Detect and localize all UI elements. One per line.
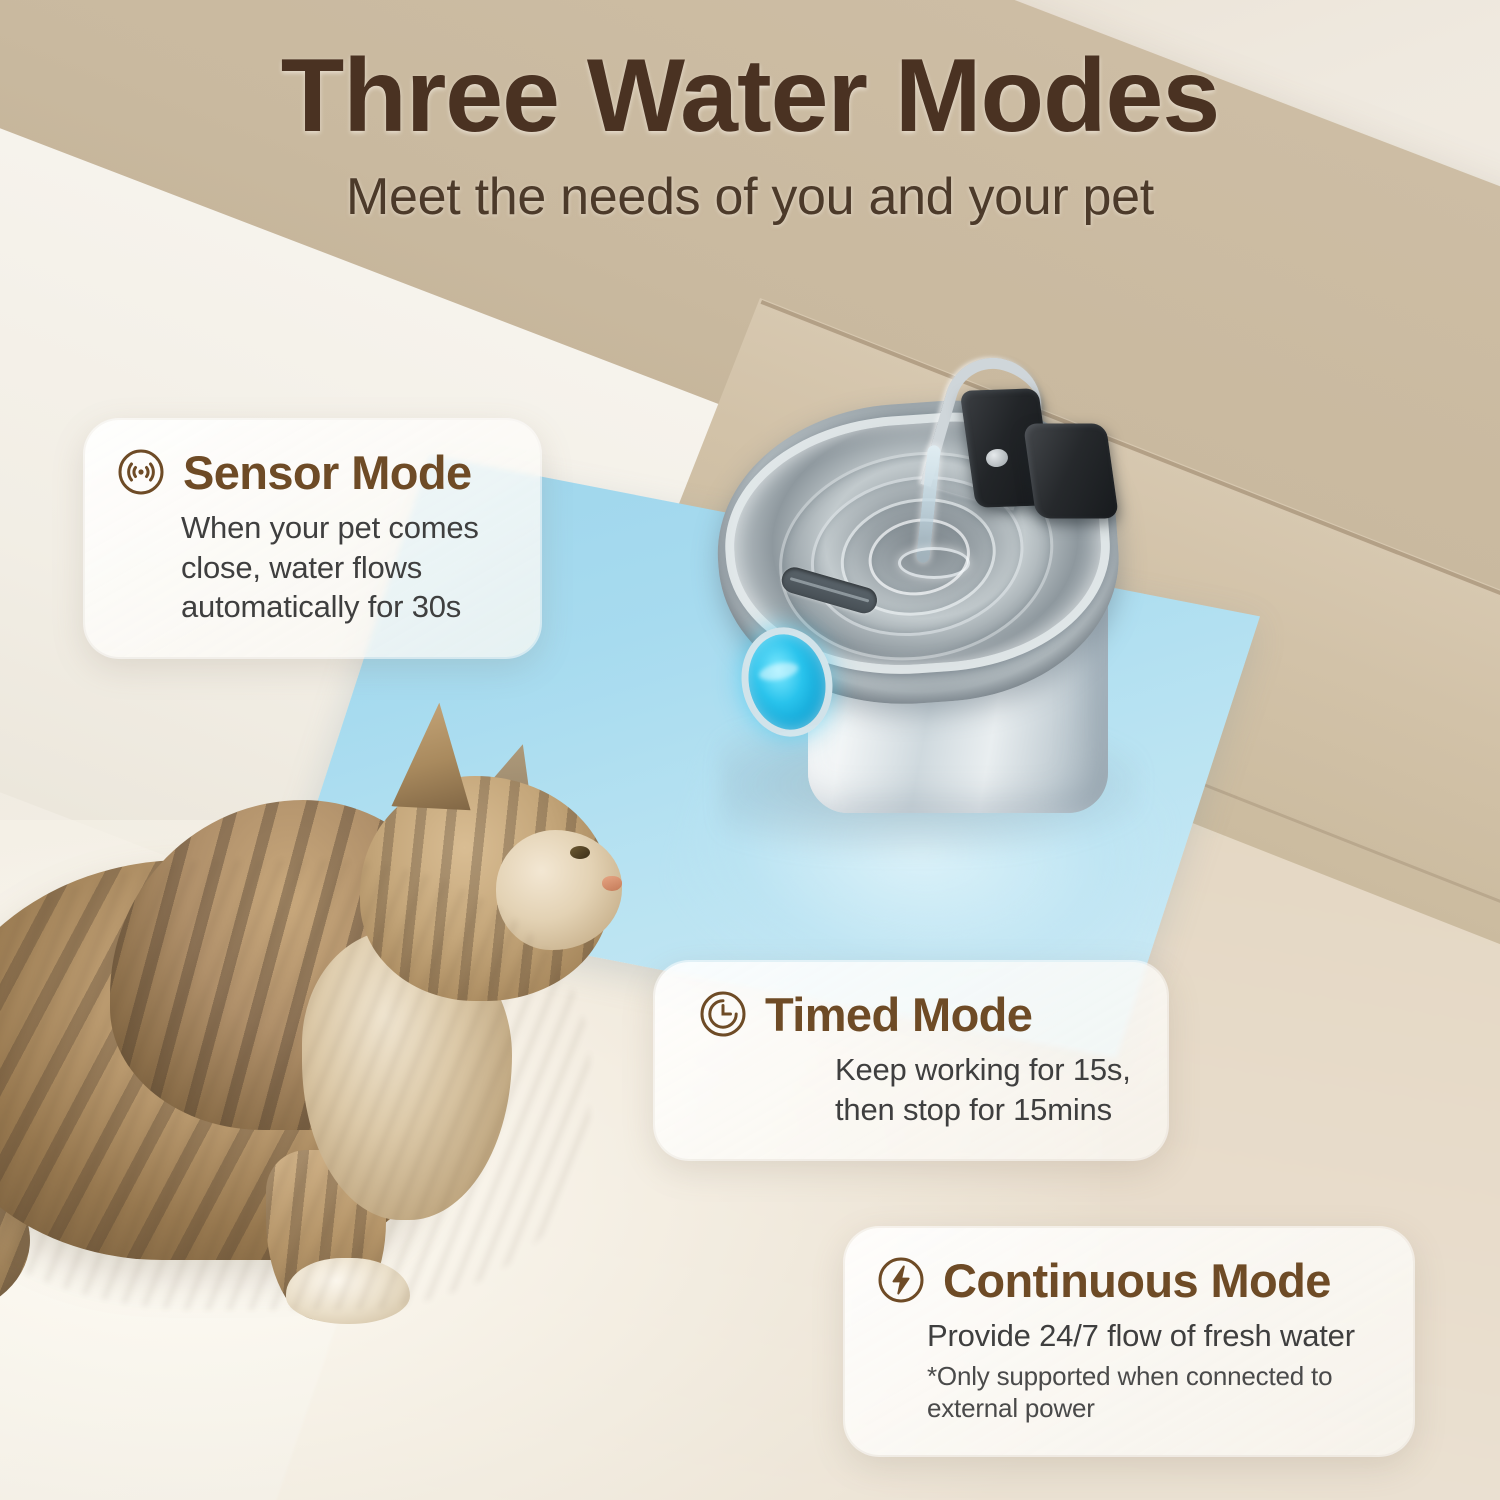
sensor-wave-icon (115, 446, 167, 498)
cat-illustration (0, 680, 690, 1340)
card-title: Timed Mode (765, 991, 1032, 1038)
cat-ear (379, 697, 482, 814)
card-body-text: When your pet comes close, water flows a… (115, 508, 510, 627)
clock-icon (697, 988, 749, 1040)
lightning-bolt-icon (875, 1254, 927, 1306)
card-body-text: Provide 24/7 flow of fresh water (875, 1316, 1383, 1356)
page-title: Three Water Modes (0, 42, 1500, 151)
card-title: Sensor Mode (183, 449, 472, 496)
cat-eye (570, 846, 590, 859)
feature-card-continuous-mode: Continuous Mode Provide 24/7 flow of fre… (845, 1228, 1413, 1455)
infographic-page: Three Water Modes Meet the needs of you … (0, 0, 1500, 1500)
card-header: Sensor Mode (115, 446, 510, 498)
card-title: Continuous Mode (943, 1257, 1331, 1304)
card-note-text: *Only supported when connected to extern… (875, 1360, 1383, 1426)
header: Three Water Modes Meet the needs of you … (0, 42, 1500, 227)
control-module-right[interactable] (1023, 423, 1119, 518)
cat-nose (602, 876, 622, 891)
cat-muzzle (496, 830, 622, 950)
card-header: Timed Mode (685, 988, 1137, 1040)
feature-card-sensor-mode: Sensor Mode When your pet comes close, w… (85, 420, 540, 657)
water-fountain-product (700, 365, 1140, 845)
water-splash-ring (898, 547, 970, 579)
cat-paw (286, 1258, 410, 1324)
card-header: Continuous Mode (875, 1254, 1383, 1306)
page-subtitle: Meet the needs of you and your pet (0, 167, 1500, 227)
feature-card-timed-mode: Timed Mode Keep working for 15s, then st… (655, 962, 1167, 1159)
card-body-text: Keep working for 15s, then stop for 15mi… (685, 1050, 1137, 1129)
